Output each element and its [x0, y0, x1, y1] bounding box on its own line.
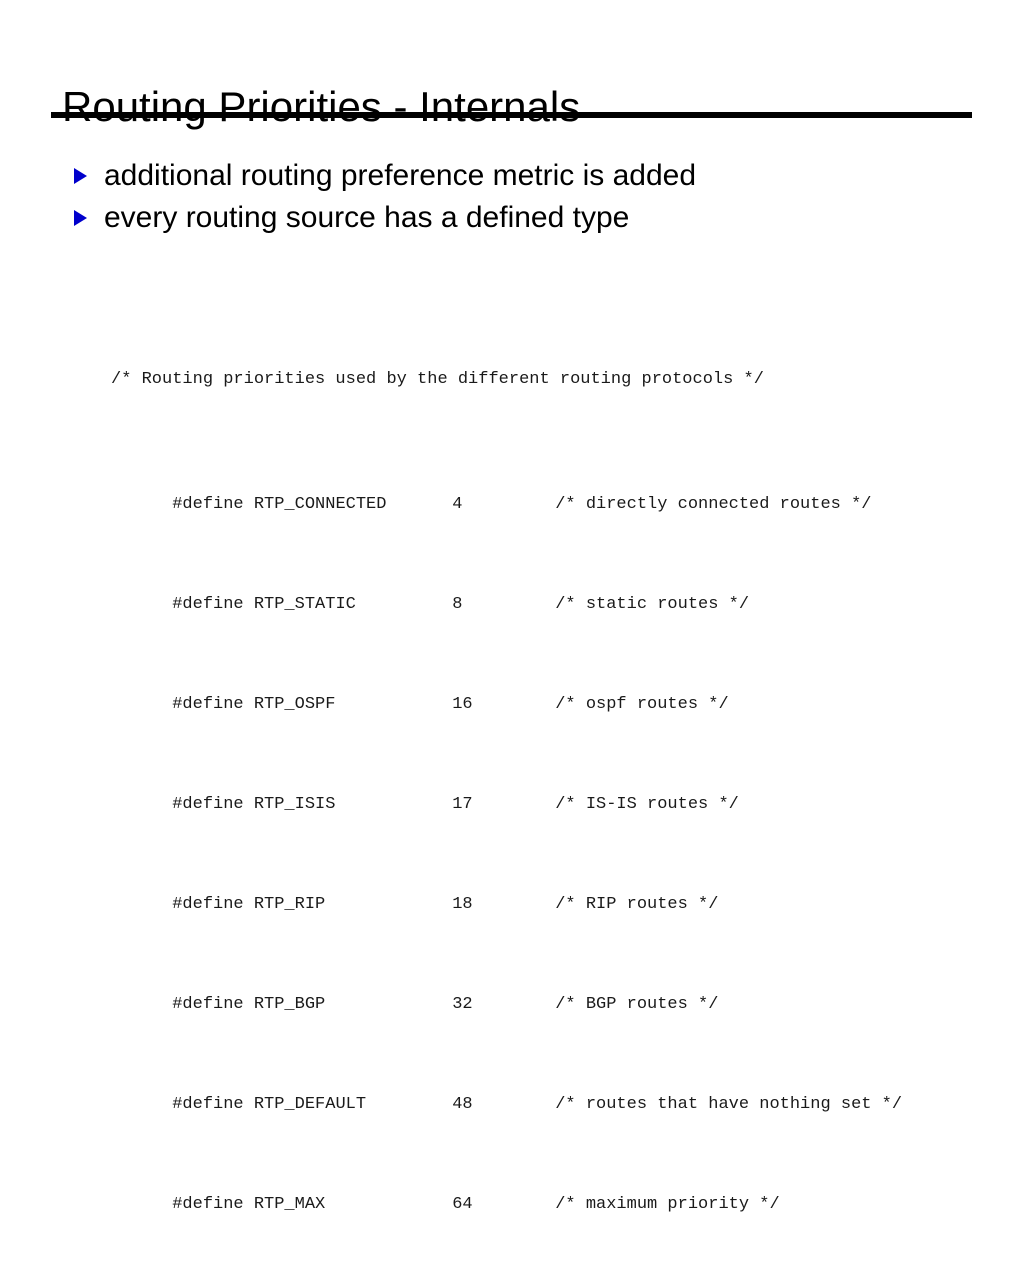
code-define: #define RTP_MAX [172, 1192, 452, 1217]
code-comment: /* static routes */ [555, 592, 749, 617]
code-define: #define RTP_ISIS [172, 792, 452, 817]
code-line: #define RTP_BGP32/* BGP routes */ [111, 967, 902, 992]
code-line: #define RTP_CONNECTED4/* directly connec… [111, 467, 902, 492]
code-block: /* Routing priorities used by the differ… [111, 292, 902, 1267]
code-comment: /* maximum priority */ [555, 1192, 779, 1217]
slide: Routing Priorities - Internals additiona… [0, 0, 1024, 768]
code-value: 64 [452, 1192, 555, 1217]
bullet-text: additional routing preference metric is … [104, 155, 974, 197]
code-value: 4 [452, 492, 555, 517]
code-value: 48 [452, 1092, 555, 1117]
code-line: #define RTP_MAX64/* maximum priority */ [111, 1167, 902, 1192]
code-define: #define RTP_CONNECTED [172, 492, 452, 517]
triangle-right-icon [74, 210, 104, 226]
code-define: #define RTP_RIP [172, 892, 452, 917]
code-comment: /* routes that have nothing set */ [555, 1092, 902, 1117]
code-define: #define RTP_DEFAULT [172, 1092, 452, 1117]
code-comment: /* IS-IS routes */ [555, 792, 739, 817]
code-comment: /* ospf routes */ [555, 692, 728, 717]
code-line: #define RTP_DEFAULT48/* routes that have… [111, 1067, 902, 1092]
code-define: #define RTP_BGP [172, 992, 452, 1017]
code-line: #define RTP_RIP18/* RIP routes */ [111, 867, 902, 892]
code-define: #define RTP_OSPF [172, 692, 452, 717]
code-line: #define RTP_OSPF16/* ospf routes */ [111, 667, 902, 692]
bullet-text: every routing source has a defined type [104, 197, 974, 239]
code-value: 32 [452, 992, 555, 1017]
list-item: additional routing preference metric is … [74, 155, 974, 197]
code-value: 17 [452, 792, 555, 817]
code-value: 8 [452, 592, 555, 617]
code-comment-header: /* Routing priorities used by the differ… [111, 367, 902, 392]
code-comment: /* BGP routes */ [555, 992, 718, 1017]
code-comment: /* directly connected routes */ [555, 492, 871, 517]
triangle-right-icon [74, 168, 104, 184]
bullet-list: additional routing preference metric is … [74, 155, 974, 239]
code-line: #define RTP_ISIS17/* IS-IS routes */ [111, 767, 902, 792]
title-divider [51, 112, 972, 118]
code-line: #define RTP_STATIC8/* static routes */ [111, 567, 902, 592]
code-define: #define RTP_STATIC [172, 592, 452, 617]
code-value: 18 [452, 892, 555, 917]
code-comment: /* RIP routes */ [555, 892, 718, 917]
page-title: Routing Priorities - Internals [62, 82, 580, 132]
list-item: every routing source has a defined type [74, 197, 974, 239]
code-value: 16 [452, 692, 555, 717]
